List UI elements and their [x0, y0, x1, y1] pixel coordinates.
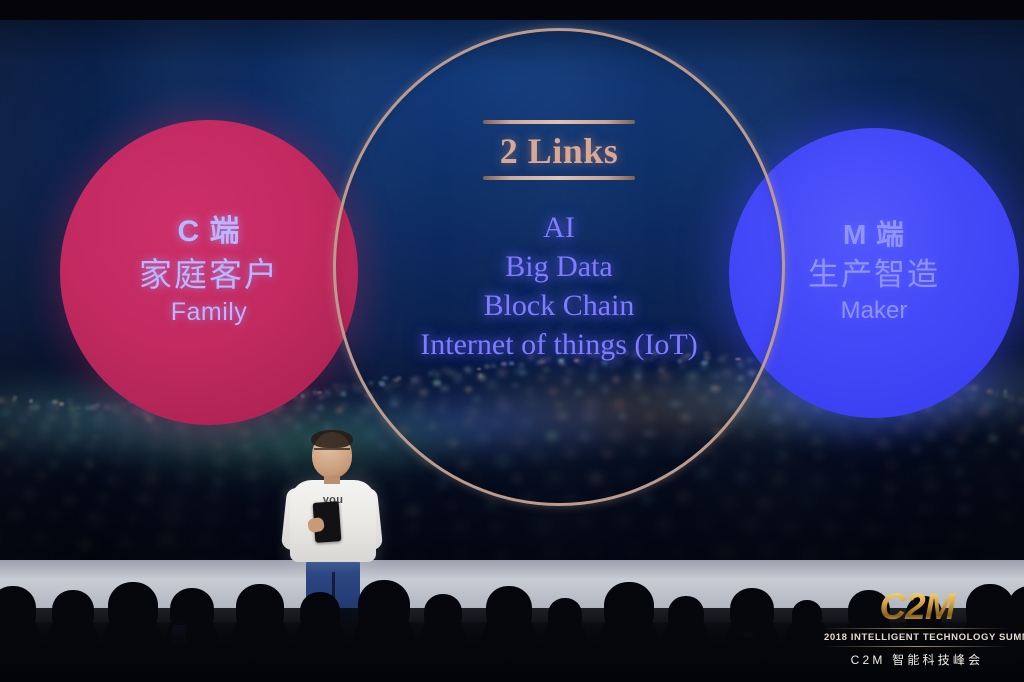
logo-chinese: C2M 智能科技峰会 [824, 651, 1010, 668]
logo-rule-bottom [824, 646, 1010, 647]
consumer-label-group: C 端 家庭客户 Family [60, 214, 358, 327]
event-logo: C2M 2018 INTELLIGENT TECHNOLOGY SUMMIT C… [824, 588, 1010, 668]
top-mask-band [0, 0, 1024, 20]
tech-item-2: Block Chain [333, 286, 785, 325]
links-title: 2 Links [333, 130, 785, 172]
consumer-line-3: Family [60, 297, 358, 328]
speaker-hair [311, 430, 353, 448]
consumer-line-2: 家庭客户 [60, 255, 358, 295]
stage-photo: C 端 家庭客户 Family M 端 生产智造 Maker 2 Links A… [0, 0, 1024, 682]
tech-item-1: Big Data [333, 247, 785, 286]
center-links-group: 2 Links AI Big Data Block Chain Internet… [333, 120, 785, 364]
consumer-line-1: C 端 [60, 214, 358, 251]
speaker-glasses-icon [314, 448, 350, 455]
tech-item-0: AI [333, 208, 785, 247]
title-rule-top [483, 120, 635, 124]
logo-tagline: 2018 INTELLIGENT TECHNOLOGY SUMMIT [824, 632, 1010, 643]
logo-rule-top [824, 628, 1010, 629]
tech-item-3: Internet of things (IoT) [333, 325, 785, 364]
logo-mark-c2m: C2M [824, 588, 1010, 625]
tech-list: AI Big Data Block Chain Internet of thin… [333, 208, 785, 364]
title-rule-bottom [483, 176, 635, 180]
